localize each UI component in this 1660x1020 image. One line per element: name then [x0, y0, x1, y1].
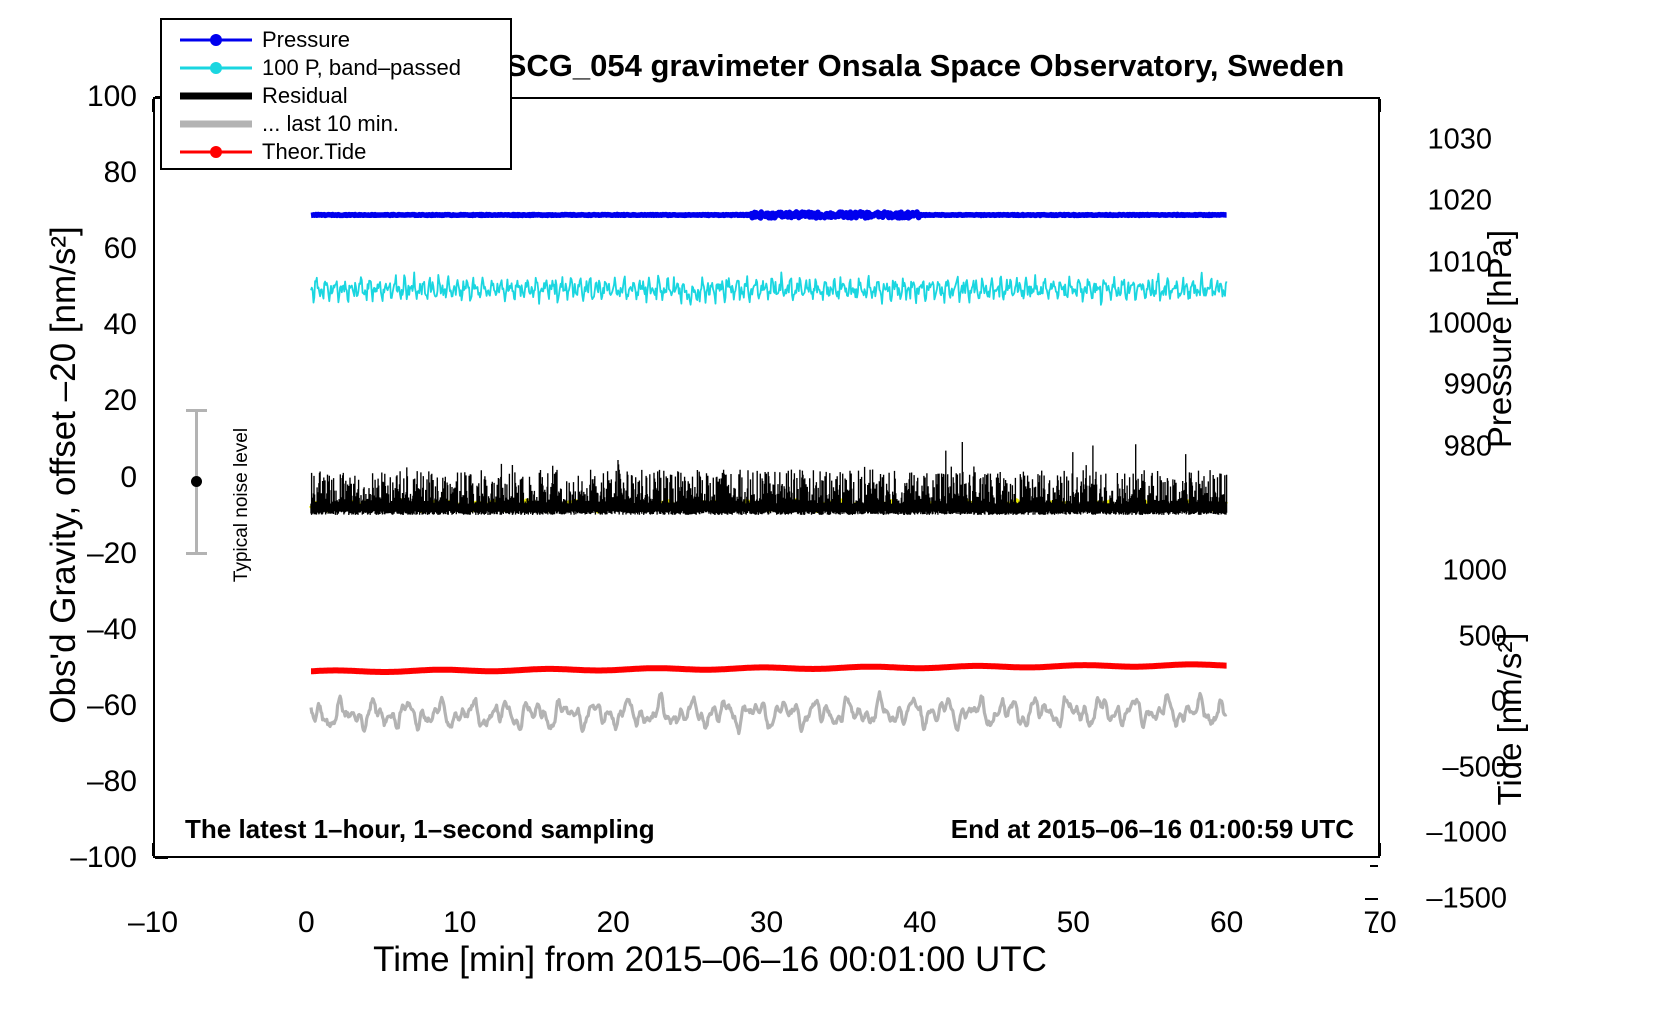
- legend-swatch-icon: [180, 113, 252, 135]
- annotation-bottom-left: The latest 1–hour, 1–second sampling: [185, 814, 655, 845]
- legend-item[interactable]: ... last 10 min.: [162, 110, 510, 138]
- legend: Pressure100 P, band–passedResidual... la…: [160, 18, 512, 170]
- legend-item[interactable]: Theor.Tide: [162, 138, 510, 166]
- legend-item-label: Residual: [262, 83, 348, 109]
- legend-swatch-icon: [180, 29, 252, 51]
- legend-marker-icon: [210, 146, 222, 158]
- legend-line-icon: [180, 121, 252, 128]
- tide-tick-minor: [1370, 931, 1378, 933]
- annotation-bottom-right: End at 2015–06–16 01:00:59 UTC: [951, 814, 1354, 845]
- chart-page: Obs'd Gravity, offset –20 [nm/s²] Pressu…: [0, 0, 1660, 1020]
- legend-item[interactable]: Residual: [162, 82, 510, 110]
- legend-swatch-icon: [180, 141, 252, 163]
- legend-item[interactable]: Pressure: [162, 26, 510, 54]
- legend-item[interactable]: 100 P, band–passed: [162, 54, 510, 82]
- legend-item-label: ... last 10 min.: [262, 111, 399, 137]
- legend-line-icon: [180, 93, 252, 100]
- trace-last-10-min: [311, 692, 1227, 734]
- data-traces: [155, 99, 1378, 856]
- legend-item-label: Theor.Tide: [262, 139, 366, 165]
- noise-bar-cap-top: [186, 409, 207, 412]
- legend-marker-icon: [210, 34, 222, 46]
- trace-pressure: [311, 212, 1227, 218]
- noise-bar-center-dot: [191, 476, 202, 487]
- legend-swatch-icon: [180, 85, 252, 107]
- legend-marker-icon: [210, 62, 222, 74]
- trace-residual: [311, 442, 1227, 515]
- trace-band-passed: [311, 272, 1227, 304]
- tide-tick-major: [1365, 898, 1378, 900]
- legend-swatch-icon: [180, 57, 252, 79]
- tide-tick-minor: [1370, 865, 1378, 867]
- noise-bar-cap-bottom: [186, 552, 207, 555]
- trace-theoretical-tide: [311, 664, 1227, 672]
- legend-item-label: Pressure: [262, 27, 350, 53]
- legend-item-label: 100 P, band–passed: [262, 55, 461, 81]
- noise-level-label: Typical noise level: [231, 400, 253, 610]
- plot-area: The latest 1–hour, 1–second sampling End…: [153, 97, 1380, 858]
